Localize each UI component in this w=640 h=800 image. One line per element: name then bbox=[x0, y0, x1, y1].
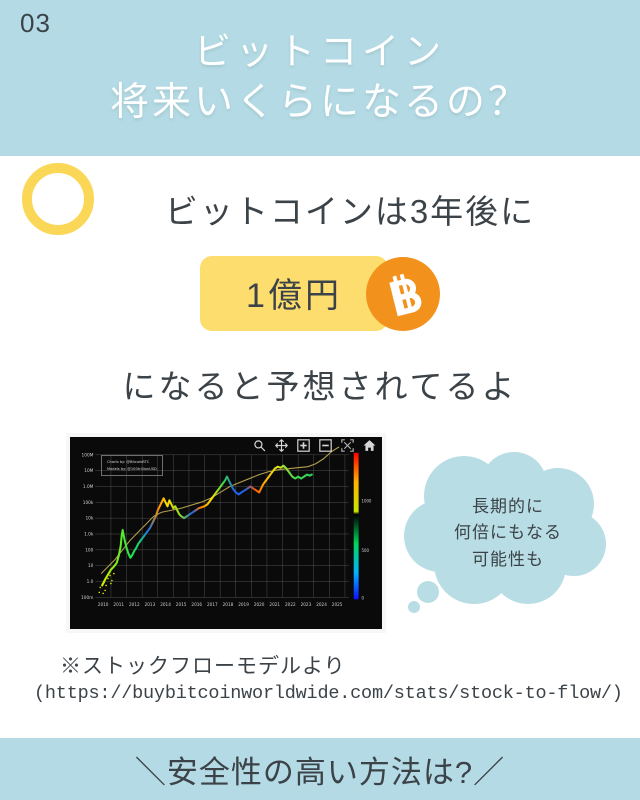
svg-text:2010: 2010 bbox=[98, 602, 109, 607]
header-title-line2: 将来いくらになるの？ bbox=[110, 77, 530, 130]
zoom-in-icon[interactable] bbox=[297, 439, 310, 452]
svg-text:0: 0 bbox=[362, 595, 365, 600]
zoom-icon[interactable] bbox=[253, 439, 266, 452]
svg-text:2025: 2025 bbox=[332, 602, 343, 607]
svg-text:10M: 10M bbox=[84, 468, 93, 474]
svg-text:500: 500 bbox=[362, 548, 370, 553]
svg-text:2023: 2023 bbox=[301, 602, 312, 607]
svg-text:2015: 2015 bbox=[176, 602, 187, 607]
chart-credit-charts: Charts by: @BitcoinBTC bbox=[107, 459, 157, 466]
svg-text:2022: 2022 bbox=[285, 602, 296, 607]
bitcoin-logo-icon bbox=[366, 257, 440, 331]
footer-band: ＼安全性の高い方法は?／ bbox=[0, 738, 640, 800]
svg-text:10: 10 bbox=[88, 563, 94, 569]
svg-text:1.0: 1.0 bbox=[87, 579, 94, 585]
svg-text:100m: 100m bbox=[81, 595, 93, 601]
home-icon[interactable] bbox=[363, 439, 376, 452]
source-url[interactable]: (https://buybitcoinworldwide.com/stats/s… bbox=[34, 683, 623, 704]
svg-text:2017: 2017 bbox=[207, 602, 218, 607]
svg-text:2021: 2021 bbox=[269, 602, 280, 607]
svg-text:1.0M: 1.0M bbox=[83, 484, 94, 490]
svg-text:2014: 2014 bbox=[160, 602, 171, 607]
svg-text:2020: 2020 bbox=[254, 602, 265, 607]
autoscale-icon[interactable] bbox=[341, 439, 354, 452]
cloud-callout: 長期的に 何倍にもなる 可能性も bbox=[402, 452, 614, 615]
cloud-line-1: 長期的に bbox=[472, 494, 544, 520]
statement-line-bottom: になると予想されてるよ bbox=[0, 360, 640, 408]
chart-credits-note: Charts by: @BitcoinBTC Models by: @100tr… bbox=[101, 455, 163, 476]
cloud-line-3: 可能性も bbox=[472, 547, 544, 573]
chart-credit-models: Models by: @100trillionUSD bbox=[107, 466, 157, 473]
highlight-row: 1億円 bbox=[0, 256, 640, 331]
svg-text:10k: 10k bbox=[85, 516, 93, 522]
statement-line-top: ビットコインは3年後に bbox=[0, 185, 640, 233]
svg-text:100M: 100M bbox=[82, 452, 94, 458]
svg-text:2024: 2024 bbox=[316, 602, 327, 607]
zoom-out-icon[interactable] bbox=[319, 439, 332, 452]
svg-text:100k: 100k bbox=[83, 500, 94, 506]
svg-text:1000: 1000 bbox=[362, 498, 372, 503]
page-number: 03 bbox=[20, 8, 51, 39]
svg-text:100: 100 bbox=[85, 547, 93, 553]
chart-canvas[interactable]: Charts by: @BitcoinBTC Models by: @100tr… bbox=[70, 437, 382, 629]
header-band: 03 ビットコイン 将来いくらになるの？ bbox=[0, 0, 640, 156]
source-note: ※ストックフローモデルより bbox=[60, 650, 346, 680]
svg-text:2012: 2012 bbox=[129, 602, 140, 607]
pan-icon[interactable] bbox=[275, 439, 288, 452]
header-title-line1: ビットコイン bbox=[194, 27, 446, 77]
chart-toolbar[interactable] bbox=[253, 439, 376, 452]
footer-text: ＼安全性の高い方法は?／ bbox=[135, 747, 505, 792]
svg-text:1.0k: 1.0k bbox=[84, 532, 94, 538]
highlight-value-box: 1億円 bbox=[200, 256, 388, 331]
svg-text:2016: 2016 bbox=[191, 602, 202, 607]
stock-to-flow-chart-panel[interactable]: Charts by: @BitcoinBTC Models by: @100tr… bbox=[66, 433, 386, 633]
cloud-text: 長期的に 何倍にもなる 可能性も bbox=[402, 452, 614, 615]
svg-text:2011: 2011 bbox=[113, 602, 124, 607]
svg-text:2019: 2019 bbox=[238, 602, 249, 607]
svg-text:2013: 2013 bbox=[145, 602, 156, 607]
cloud-line-2: 何倍にもなる bbox=[454, 520, 562, 546]
svg-text:2018: 2018 bbox=[223, 602, 234, 607]
